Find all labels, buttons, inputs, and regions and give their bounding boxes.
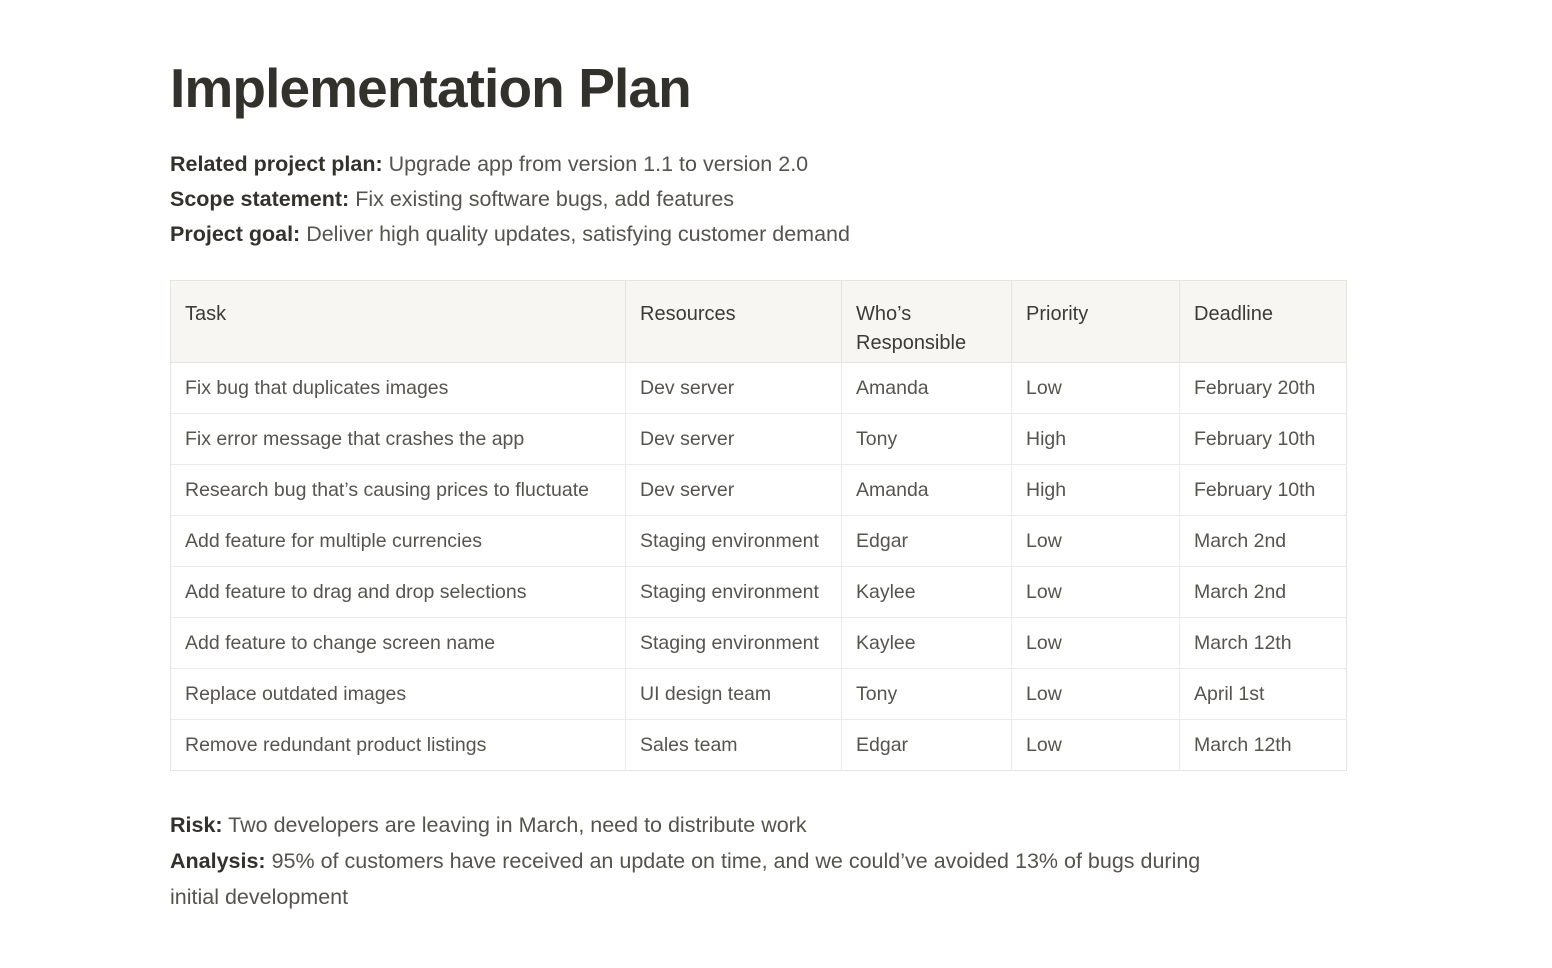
cell-resources: Dev server: [626, 413, 842, 464]
cell-deadline: March 12th: [1180, 719, 1347, 770]
cell-priority: High: [1012, 413, 1180, 464]
table-header: Task Resources Who’s Responsible Priorit…: [171, 280, 1347, 362]
cell-responsible: Tony: [842, 413, 1012, 464]
cell-resources: Dev server: [626, 464, 842, 515]
meta-value: Deliver high quality updates, satisfying…: [306, 222, 850, 246]
table-row: Remove redundant product listings Sales …: [171, 719, 1347, 770]
meta-value: Upgrade app from version 1.1 to version …: [389, 152, 808, 176]
footer-value: 95% of customers have received an update…: [170, 849, 1200, 909]
cell-resources: Sales team: [626, 719, 842, 770]
cell-priority: Low: [1012, 515, 1180, 566]
table-row: Research bug that’s causing prices to fl…: [171, 464, 1347, 515]
table-row: Add feature to drag and drop selections …: [171, 566, 1347, 617]
meta-label: Project goal:: [170, 222, 300, 246]
table-header-row: Task Resources Who’s Responsible Priorit…: [171, 280, 1347, 362]
cell-priority: High: [1012, 464, 1180, 515]
cell-deadline: February 10th: [1180, 413, 1347, 464]
meta-line-project-goal: Project goal: Deliver high quality updat…: [170, 217, 1370, 252]
cell-deadline: March 2nd: [1180, 566, 1347, 617]
meta-line-scope-statement: Scope statement: Fix existing software b…: [170, 182, 1370, 217]
meta-label: Scope statement:: [170, 187, 349, 211]
cell-priority: Low: [1012, 668, 1180, 719]
cell-responsible: Kaylee: [842, 617, 1012, 668]
cell-task: Add feature for multiple currencies: [171, 515, 626, 566]
cell-resources: Dev server: [626, 362, 842, 413]
table-body: Fix bug that duplicates images Dev serve…: [171, 362, 1347, 770]
cell-resources: Staging environment: [626, 566, 842, 617]
footer-value: Two developers are leaving in March, nee…: [228, 813, 806, 837]
column-header-responsible: Who’s Responsible: [842, 280, 1012, 362]
cell-deadline: March 2nd: [1180, 515, 1347, 566]
cell-priority: Low: [1012, 617, 1180, 668]
table-row: Replace outdated images UI design team T…: [171, 668, 1347, 719]
cell-responsible: Amanda: [842, 362, 1012, 413]
document-page: Implementation Plan Related project plan…: [0, 0, 1552, 968]
meta-line-related-project-plan: Related project plan: Upgrade app from v…: [170, 147, 1370, 182]
cell-responsible: Kaylee: [842, 566, 1012, 617]
footer-label: Analysis:: [170, 849, 266, 873]
document-content: Implementation Plan Related project plan…: [170, 0, 1370, 915]
implementation-plan-table: Task Resources Who’s Responsible Priorit…: [170, 280, 1347, 771]
cell-responsible: Edgar: [842, 515, 1012, 566]
cell-task: Replace outdated images: [171, 668, 626, 719]
footer-label: Risk:: [170, 813, 223, 837]
project-meta-block: Related project plan: Upgrade app from v…: [170, 147, 1370, 252]
column-header-resources: Resources: [626, 280, 842, 362]
footer-line-analysis: Analysis: 95% of customers have received…: [170, 843, 1230, 915]
cell-task: Fix bug that duplicates images: [171, 362, 626, 413]
cell-responsible: Tony: [842, 668, 1012, 719]
cell-deadline: April 1st: [1180, 668, 1347, 719]
meta-label: Related project plan:: [170, 152, 383, 176]
table-row: Fix error message that crashes the app D…: [171, 413, 1347, 464]
footer-line-risk: Risk: Two developers are leaving in Marc…: [170, 807, 1230, 843]
cell-responsible: Edgar: [842, 719, 1012, 770]
cell-task: Fix error message that crashes the app: [171, 413, 626, 464]
cell-responsible: Amanda: [842, 464, 1012, 515]
column-header-deadline: Deadline: [1180, 280, 1347, 362]
column-header-priority: Priority: [1012, 280, 1180, 362]
cell-task: Add feature to drag and drop selections: [171, 566, 626, 617]
cell-task: Remove redundant product listings: [171, 719, 626, 770]
cell-deadline: February 10th: [1180, 464, 1347, 515]
cell-task: Add feature to change screen name: [171, 617, 626, 668]
cell-deadline: March 12th: [1180, 617, 1347, 668]
table-row: Add feature for multiple currencies Stag…: [171, 515, 1347, 566]
cell-priority: Low: [1012, 362, 1180, 413]
meta-value: Fix existing software bugs, add features: [355, 187, 734, 211]
summary-block: Risk: Two developers are leaving in Marc…: [170, 807, 1230, 915]
implementation-plan-table-wrapper: Task Resources Who’s Responsible Priorit…: [170, 280, 1346, 771]
cell-priority: Low: [1012, 566, 1180, 617]
cell-resources: Staging environment: [626, 515, 842, 566]
table-row: Add feature to change screen name Stagin…: [171, 617, 1347, 668]
cell-priority: Low: [1012, 719, 1180, 770]
cell-task: Research bug that’s causing prices to fl…: [171, 464, 626, 515]
page-title: Implementation Plan: [170, 0, 1370, 118]
cell-resources: UI design team: [626, 668, 842, 719]
table-row: Fix bug that duplicates images Dev serve…: [171, 362, 1347, 413]
column-header-task: Task: [171, 280, 626, 362]
cell-resources: Staging environment: [626, 617, 842, 668]
cell-deadline: February 20th: [1180, 362, 1347, 413]
